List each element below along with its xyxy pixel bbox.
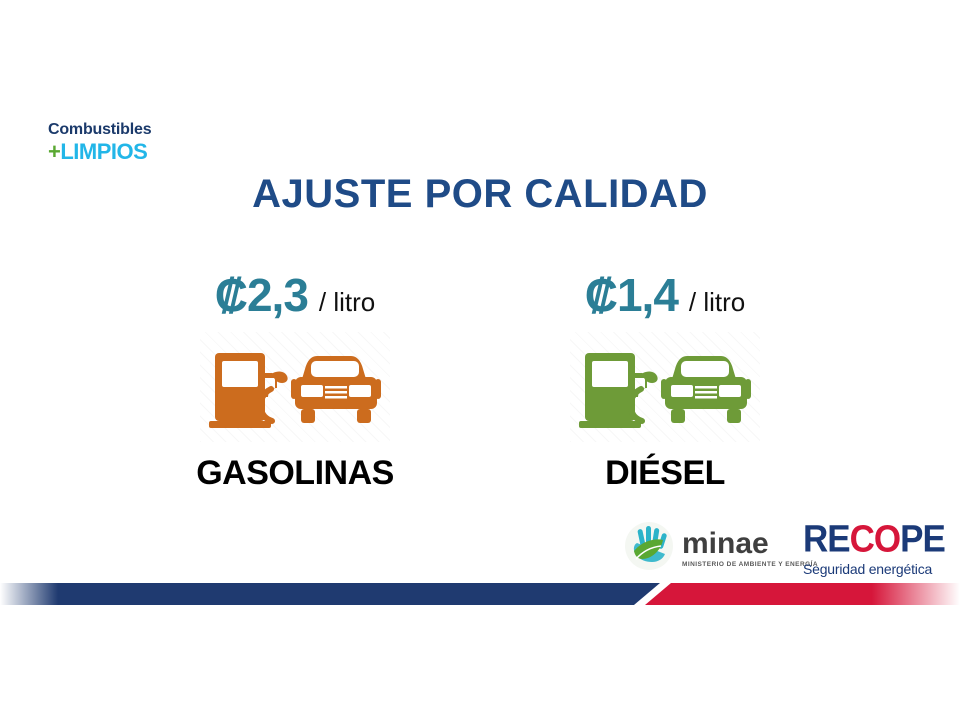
- brand-logo-line1: Combustibles: [48, 122, 151, 138]
- minae-wordmark: minae: [682, 529, 818, 559]
- fuel-column-gasolinas: ₡2,3 / litro: [145, 268, 445, 493]
- fuel-label-gasolinas: GASOLINAS: [145, 454, 445, 493]
- fuel-pump-car-icon: [577, 339, 753, 435]
- fuel-label-diesel: DIÉSEL: [515, 454, 815, 493]
- hand-leaf-icon: [620, 521, 678, 576]
- minae-logo: minae MINISTERIO DE AMBIENTE Y ENERGÍA: [620, 521, 818, 576]
- footer-stripe-navy-segment: [0, 583, 660, 605]
- price-row-diesel: ₡1,4 / litro: [515, 268, 815, 326]
- brand-logo-combustibles-limpios: Combustibles +LIMPIOS: [48, 122, 151, 163]
- recope-part-re: RE: [803, 518, 850, 560]
- brand-logo-line2: +LIMPIOS: [48, 141, 151, 163]
- recope-wordmark: RECOPE: [803, 520, 945, 558]
- recope-part-co: CO: [850, 518, 901, 560]
- footer-stripe-red-segment: [645, 583, 960, 605]
- recope-part-pe: PE: [900, 518, 945, 560]
- recope-tagline: Seguridad energética: [803, 562, 945, 576]
- price-unit-diesel: / litro: [689, 287, 745, 318]
- recope-logo: RECOPE Seguridad energética: [803, 520, 945, 576]
- footer-stripe: [0, 583, 960, 605]
- fuel-pump-car-icon: [207, 339, 383, 435]
- minae-tagline: MINISTERIO DE AMBIENTE Y ENERGÍA: [682, 562, 818, 569]
- price-amount-gasolinas: ₡2,3: [215, 268, 308, 322]
- minae-text-block: minae MINISTERIO DE AMBIENTE Y ENERGÍA: [682, 529, 818, 569]
- brand-plus-glyph: +: [48, 139, 60, 164]
- price-amount-diesel: ₡1,4: [585, 268, 678, 322]
- icon-plate-diesel: [570, 332, 760, 442]
- fuel-column-diesel: ₡1,4 / litro: [515, 268, 815, 493]
- page-title: AJUSTE POR CALIDAD: [0, 172, 960, 217]
- slide-canvas: Combustibles +LIMPIOS AJUSTE POR CALIDAD…: [0, 0, 960, 720]
- price-unit-gasolinas: / litro: [319, 287, 375, 318]
- brand-logo-limpios: LIMPIOS: [60, 139, 147, 164]
- icon-plate-gasolinas: [200, 332, 390, 442]
- price-row-gasolinas: ₡2,3 / litro: [145, 268, 445, 326]
